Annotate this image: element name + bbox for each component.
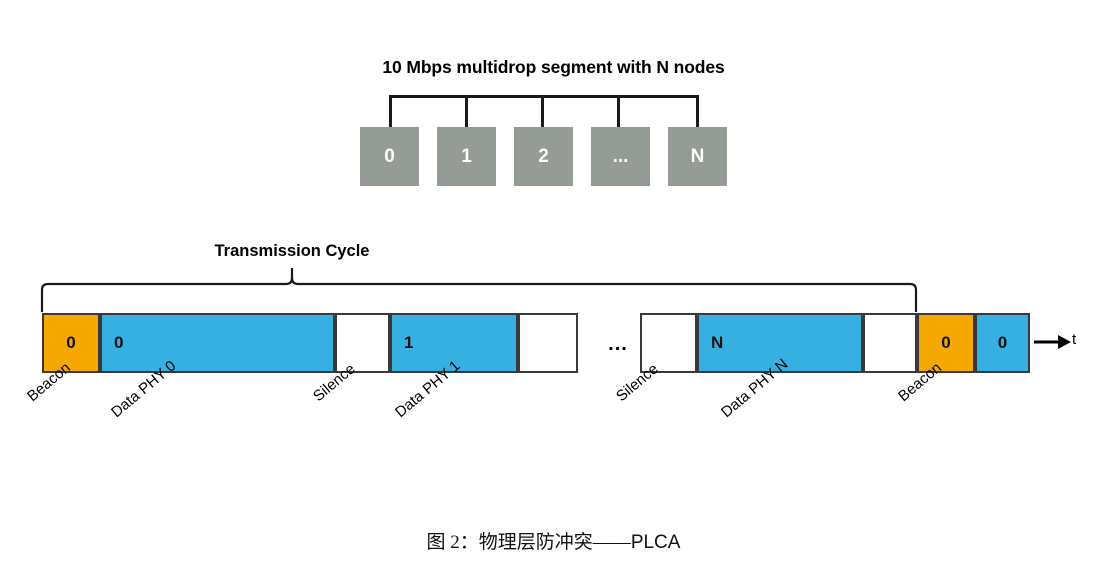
node-box-2[interactable]: 2: [514, 127, 573, 186]
node-box-0[interactable]: 0: [360, 127, 419, 186]
node-box-1[interactable]: 1: [437, 127, 496, 186]
caption-prefix: 图 2：物理层防冲突——: [427, 532, 631, 553]
segment-title: 10 Mbps multidrop segment with N nodes: [0, 57, 1107, 78]
transmission-cycle-bracket: [36, 268, 926, 312]
slot-value: N: [699, 333, 723, 353]
bus-line: [389, 95, 699, 98]
node-box-n[interactable]: N: [668, 127, 727, 186]
node-label: N: [691, 146, 705, 168]
slot-label-silence-2: Silence: [613, 360, 662, 405]
transmission-cycle-label: Transmission Cycle: [192, 242, 392, 261]
slot-silence-1[interactable]: [518, 313, 578, 373]
node-stem-2: [541, 95, 544, 128]
node-stem-1: [465, 95, 468, 128]
slot-value: 0: [998, 333, 1007, 353]
node-stem-3: [617, 95, 620, 128]
slot-value: 0: [941, 333, 950, 353]
slot-value: 0: [66, 333, 75, 353]
node-label: 0: [384, 146, 395, 168]
figure-canvas: 10 Mbps multidrop segment with N nodes 0…: [0, 0, 1107, 579]
slot-data-phy-0[interactable]: 0: [100, 313, 335, 373]
slot-silence-3[interactable]: [863, 313, 917, 373]
node-label: 2: [538, 146, 549, 168]
slot-value: 0: [102, 333, 123, 353]
node-label: 1: [461, 146, 472, 168]
node-box-ellipsis[interactable]: ...: [591, 127, 650, 186]
slot-beacon-start[interactable]: 0: [42, 313, 100, 373]
slot-beacon-end[interactable]: 0: [917, 313, 975, 373]
time-axis-label: t: [1072, 331, 1076, 348]
figure-caption: 图 2：物理层防冲突——PLCA: [0, 527, 1107, 554]
node-label: ...: [613, 146, 629, 168]
node-stem-0: [389, 95, 392, 128]
node-stem-4: [696, 95, 699, 128]
time-arrow-icon: [1032, 330, 1072, 354]
slot-data-next-cycle[interactable]: 0: [975, 313, 1030, 373]
slot-value: 1: [392, 333, 413, 353]
timeline-break-ellipsis: ...: [596, 333, 640, 356]
caption-suffix: PLCA: [631, 532, 681, 553]
